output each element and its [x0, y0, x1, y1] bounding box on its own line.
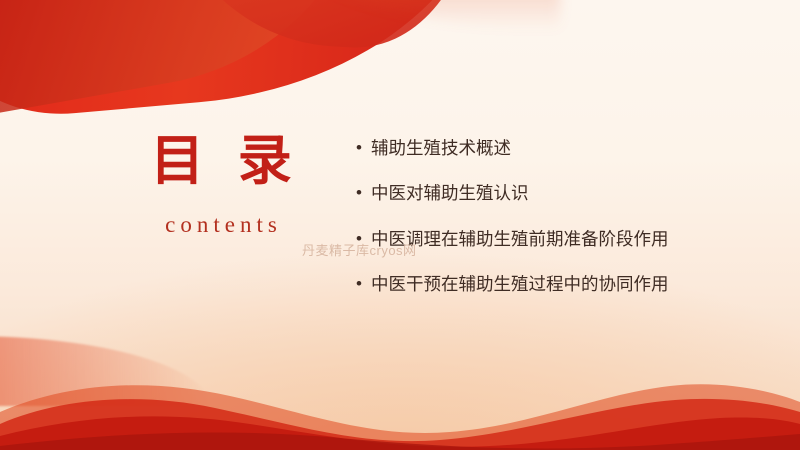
list-item-label: 中医对辅助生殖认识 [371, 179, 736, 207]
list-item[interactable]: • 中医对辅助生殖认识 [356, 179, 736, 207]
watermark-text: 丹麦精子库cryos网 [302, 240, 417, 259]
bullet-dot-icon: • [356, 179, 362, 207]
page-title: 目 录 [96, 128, 346, 196]
slide-canvas: 目 录 contents • 辅助生殖技术概述 • 中医对辅助生殖认识 • 中医… [0, 0, 800, 450]
page-subtitle: contents [96, 212, 346, 238]
bullet-dot-icon: • [356, 134, 362, 162]
toc-list: • 辅助生殖技术概述 • 中医对辅助生殖认识 • 中医调理在辅助生殖前期准备阶段… [356, 134, 736, 315]
list-item[interactable]: • 辅助生殖技术概述 [356, 134, 736, 162]
bullet-dot-icon: • [356, 270, 362, 298]
list-item[interactable]: • 中医干预在辅助生殖过程中的协同作用 [356, 270, 736, 298]
toc-title-block: 目 录 contents [96, 128, 346, 238]
list-item-label: 中医调理在辅助生殖前期准备阶段作用 [371, 225, 736, 253]
list-item-label: 辅助生殖技术概述 [371, 134, 736, 162]
list-item-label: 中医干预在辅助生殖过程中的协同作用 [371, 270, 736, 298]
slide-content: 目 录 contents • 辅助生殖技术概述 • 中医对辅助生殖认识 • 中医… [0, 0, 800, 450]
